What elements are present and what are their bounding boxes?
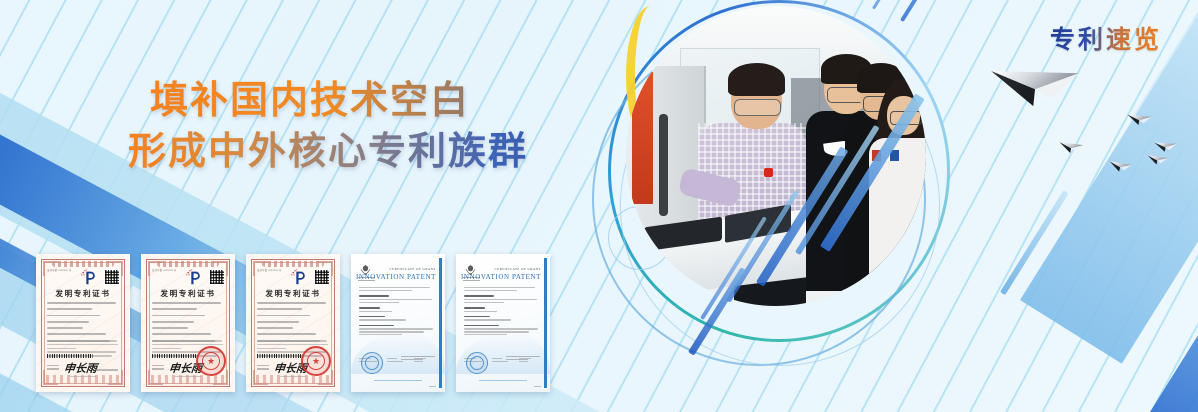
au-innovation-patent-certificate-2[interactable]: CERTIFICATE OF GRANTINNOVATION PATENT [456,254,550,392]
party-emblem-pin [764,168,773,177]
footer-rule [374,380,423,381]
person-teacher-glasses [734,99,781,116]
certificate-kicker: CERTIFICATE OF GRANT [390,267,436,271]
ornament-top [52,261,114,267]
corner-label: 专利速览 [1050,20,1162,56]
au-innovation-patent-certificate-1[interactable]: CERTIFICATE OF GRANTINNOVATION PATENT [351,254,445,392]
qr-code-icon [314,269,330,285]
patent-banner: 填补国内技术空白 形成中外核心专利族群 专利速览 证书号第 xxxxxxx 号发… [0,0,1198,412]
certificate-footer [246,364,340,382]
cnipa-logo-icon [290,269,308,286]
cnipa-logo-icon [185,269,203,286]
ornament-top [262,261,324,267]
certificate-footer [36,364,130,382]
certificate-row: 证书号第 xxxxxxx 号发明专利证书申长雨证书号第 xxxxxxx 号发明专… [36,254,550,392]
headline-line-2: 形成中外核心专利族群 [128,127,620,178]
qr-code-icon [104,269,120,285]
blue-edge-bar [544,258,547,388]
certificate-title: 发明专利证书 [141,288,235,299]
barcode [257,354,303,358]
certificate-title: 发明专利证书 [36,288,130,299]
qr-code-icon [209,269,225,285]
lab-cable [659,114,668,216]
certificate-number: 证书号第 xxxxxxx 号 [47,268,71,272]
certificate-title: 发明专利证书 [246,288,340,299]
cn-invention-patent-certificate-1[interactable]: 证书号第 xxxxxxx 号发明专利证书申长雨 [36,254,130,392]
certificate-footer [141,364,235,382]
headline-line-1: 填补国内技术空白 [150,76,620,127]
blue-edge-bar [439,258,442,388]
footer-rule [479,380,528,381]
barcode [152,354,198,358]
ornament-top [157,261,219,267]
cn-invention-patent-certificate-2[interactable]: 证书号第 xxxxxxx 号发明专利证书申长雨 [141,254,235,392]
page-number [429,386,436,387]
commissioner-signature-block [506,356,540,362]
ip-australia-seal-icon [466,352,488,374]
certificate-number: 证书号第 xxxxxxx 号 [152,268,176,272]
headline-block: 填补国内技术空白 形成中外核心专利族群 [150,76,620,179]
cn-invention-patent-certificate-3[interactable]: 证书号第 xxxxxxx 号发明专利证书申长雨 [246,254,340,392]
commissioner-signature-block [401,356,435,362]
lab-instrument-red-panel [632,72,653,204]
certificate-title: INNOVATION PATENT [461,273,541,281]
certificate-body [464,287,540,339]
page-number [534,386,541,387]
ip-australia-seal-icon [361,352,383,374]
certificate-body [359,287,435,339]
certificate-number: 证书号第 xxxxxxx 号 [257,268,281,272]
certificate-title: INNOVATION PATENT [356,273,436,281]
person-teacher-hair [728,63,785,96]
certificate-kicker: CERTIFICATE OF GRANT [495,267,541,271]
cnipa-logo-icon [80,269,98,286]
barcode [47,354,93,358]
